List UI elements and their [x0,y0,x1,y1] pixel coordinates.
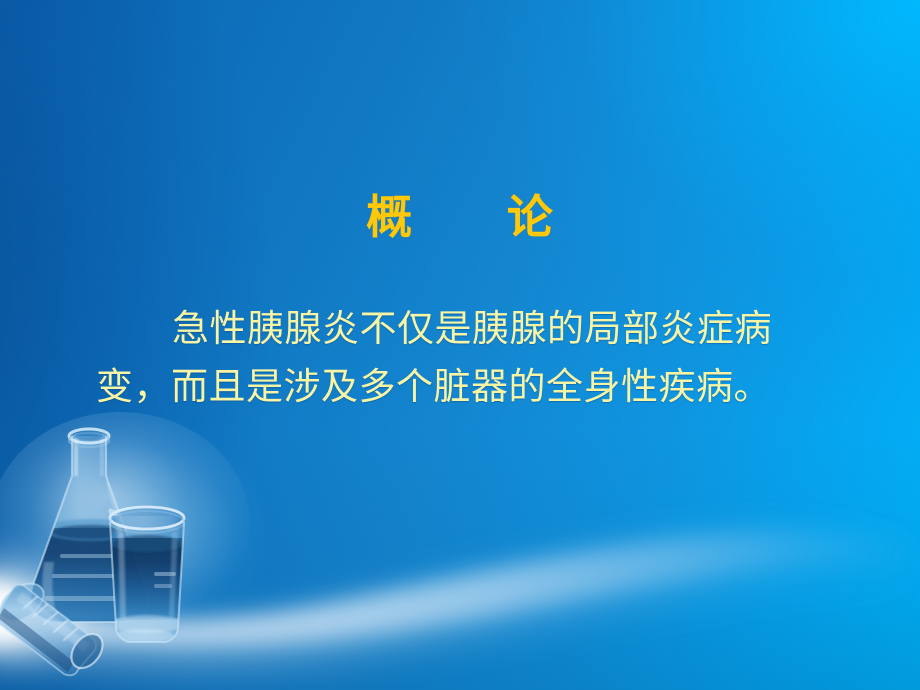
presentation-slide: 概 论 急性胰腺炎不仅是胰腺的局部炎症病 变，而且是涉及多个脏器的全身性疾病。 [0,0,920,690]
slide-title: 概 论 [0,192,920,244]
body-line-2: 变，而且是涉及多个脏器的全身性疾病。 [96,358,826,416]
slide-body-text: 急性胰腺炎不仅是胰腺的局部炎症病 变，而且是涉及多个脏器的全身性疾病。 [96,300,826,416]
body-line-1: 急性胰腺炎不仅是胰腺的局部炎症病 [96,300,826,358]
